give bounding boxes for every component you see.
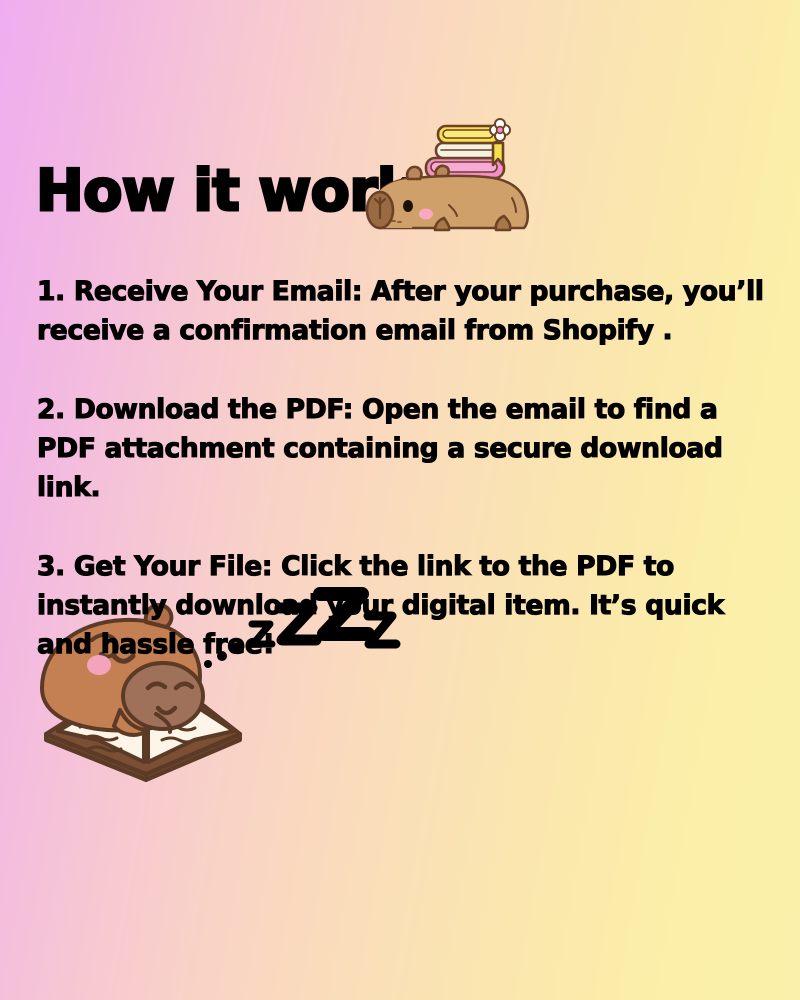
step-item-1: 1. Receive Your Email: After your purcha…: [37, 272, 767, 350]
capybara-ear-right: [436, 166, 449, 176]
capybara-eye: [403, 200, 413, 212]
capybara-blush: [419, 209, 433, 220]
steps-list: 1. Receive Your Email: After your purcha…: [37, 272, 767, 664]
capybara-with-book-stack-illustration: [352, 58, 552, 243]
poster-canvas: How it works: [0, 0, 800, 1000]
step-item-3: 3. Get Your File: Click the link to the …: [37, 547, 767, 664]
capybara-ear-left: [407, 167, 421, 179]
step-item-2: 2. Download the PDF: Open the email to f…: [37, 390, 767, 507]
